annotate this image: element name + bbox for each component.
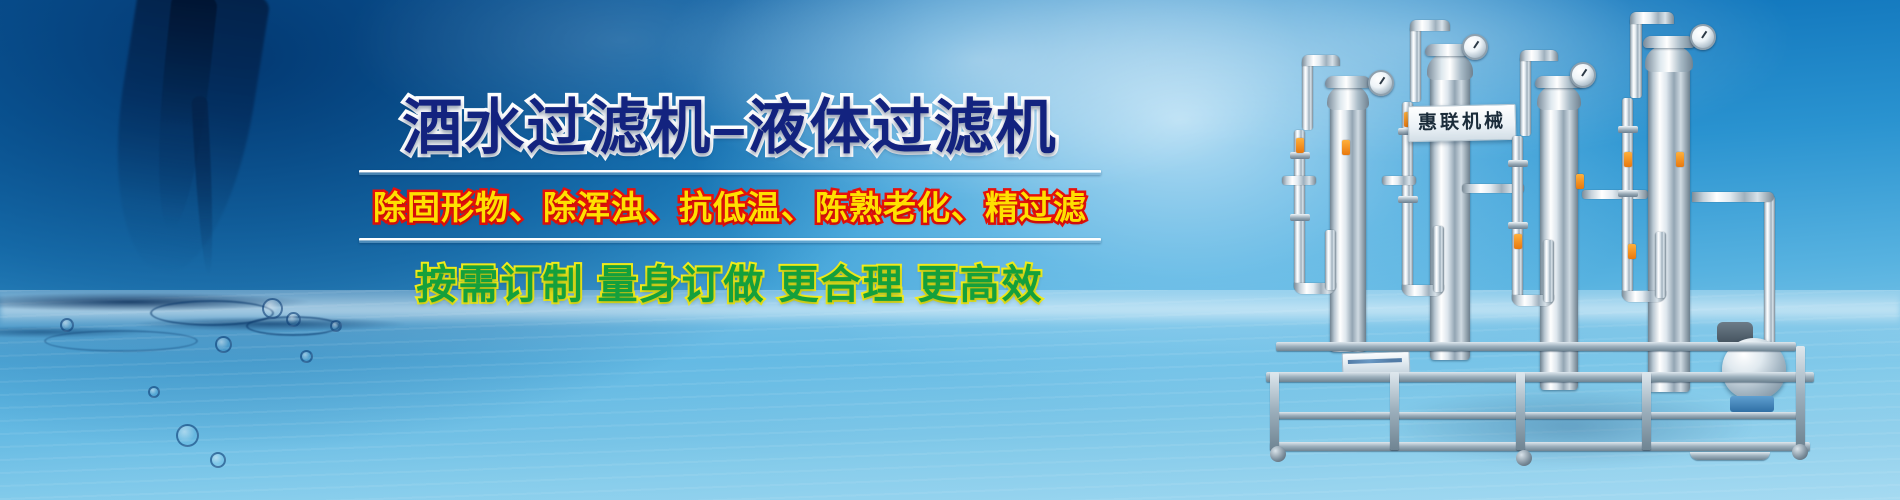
pressure-gauge (1690, 24, 1716, 50)
top-elbow-pipe (1302, 55, 1340, 66)
frame-leg (1642, 372, 1651, 450)
water-bubble (148, 386, 160, 398)
water-ripple (44, 330, 198, 352)
caster-wheel (1792, 444, 1808, 460)
u-bend-rise (1655, 232, 1666, 298)
valve-handle (1624, 152, 1632, 167)
riser-pipe (1520, 56, 1531, 136)
banner-copy: 酒水过滤机–液体过滤机 除固形物、除浑浊、抗低温、陈熟老化、精过滤 按需订制 量… (330, 96, 1130, 309)
pump-base (1730, 396, 1774, 412)
frame-leg (1270, 372, 1279, 450)
frame-leg (1516, 372, 1525, 450)
water-bubble (60, 318, 74, 332)
water-bubble (330, 320, 342, 332)
product-photo-filter-machine: 惠联机械 (1230, 0, 1900, 500)
pipe-clamp (1618, 126, 1638, 133)
top-elbow-pipe (1410, 20, 1450, 31)
pipe-clamp (1618, 190, 1638, 197)
frame-rail-top-back (1276, 342, 1796, 351)
pipe-clamp (1508, 222, 1528, 229)
top-elbow-pipe (1520, 50, 1558, 61)
pipe-clamp (1508, 160, 1528, 167)
water-bubble (210, 452, 226, 468)
frame-rail-bottom (1270, 442, 1810, 451)
outlet-pipe-vertical (1764, 196, 1775, 346)
pressure-gauge (1368, 70, 1394, 96)
valve-handle (1514, 234, 1522, 249)
divider-top (359, 170, 1101, 175)
frame-rail-mid (1274, 412, 1802, 419)
valve-handle (1576, 174, 1584, 189)
pressure-gauge (1570, 62, 1596, 88)
frame-leg (1390, 372, 1399, 450)
divider-bottom (359, 238, 1101, 243)
u-bend-rise (1543, 240, 1554, 302)
water-bubble (176, 424, 199, 447)
valve-handle (1342, 140, 1350, 155)
frame-rail-top-front (1266, 372, 1814, 382)
filter-vessel-body (1330, 100, 1366, 352)
brand-nameplate-text: 惠联机械 (1418, 112, 1506, 133)
valve-handle (1296, 138, 1304, 153)
banner-service-line: 按需订制 量身订做 更合理 更高效 (330, 261, 1130, 309)
cross-connector-pipe (1282, 176, 1316, 185)
water-bubble (215, 336, 232, 353)
riser-pipe (1410, 26, 1421, 102)
valve-handle (1676, 152, 1684, 167)
water-bubble (286, 312, 301, 327)
u-bend-rise (1433, 226, 1444, 292)
filter-vessel-cap (1325, 76, 1371, 88)
caster-wheel (1516, 450, 1532, 466)
water-bubble (300, 350, 313, 363)
pressure-gauge (1462, 34, 1488, 60)
frame-leg (1796, 346, 1805, 446)
brand-nameplate: 惠联机械 (1408, 104, 1517, 142)
valve-handle (1628, 244, 1636, 259)
filter-vessel-cap (1643, 36, 1695, 48)
filter-vessel-dome (1645, 44, 1693, 72)
riser-pipe (1302, 60, 1313, 130)
water-bubble (262, 298, 283, 319)
banner-title: 酒水过滤机–液体过滤机 (330, 96, 1130, 161)
promo-banner: 酒水过滤机–液体过滤机 除固形物、除浑浊、抗低温、陈熟老化、精过滤 按需订制 量… (0, 0, 1900, 500)
outlet-pipe-horizontal (1692, 192, 1774, 202)
cross-connector-pipe (1382, 176, 1416, 185)
cross-connector-pipe (1582, 190, 1648, 199)
pipe-clamp (1290, 214, 1310, 221)
riser-pipe (1630, 18, 1642, 98)
caster-wheel (1270, 446, 1286, 462)
frame-cross-brace (1690, 452, 1770, 460)
top-elbow-pipe (1630, 12, 1674, 24)
banner-features-line: 除固形物、除浑浊、抗低温、陈熟老化、精过滤 (330, 187, 1130, 228)
label-plate-stripe (1348, 358, 1402, 364)
pipe-clamp (1290, 152, 1310, 159)
u-bend-rise (1325, 230, 1336, 290)
pipe-clamp (1398, 196, 1418, 203)
